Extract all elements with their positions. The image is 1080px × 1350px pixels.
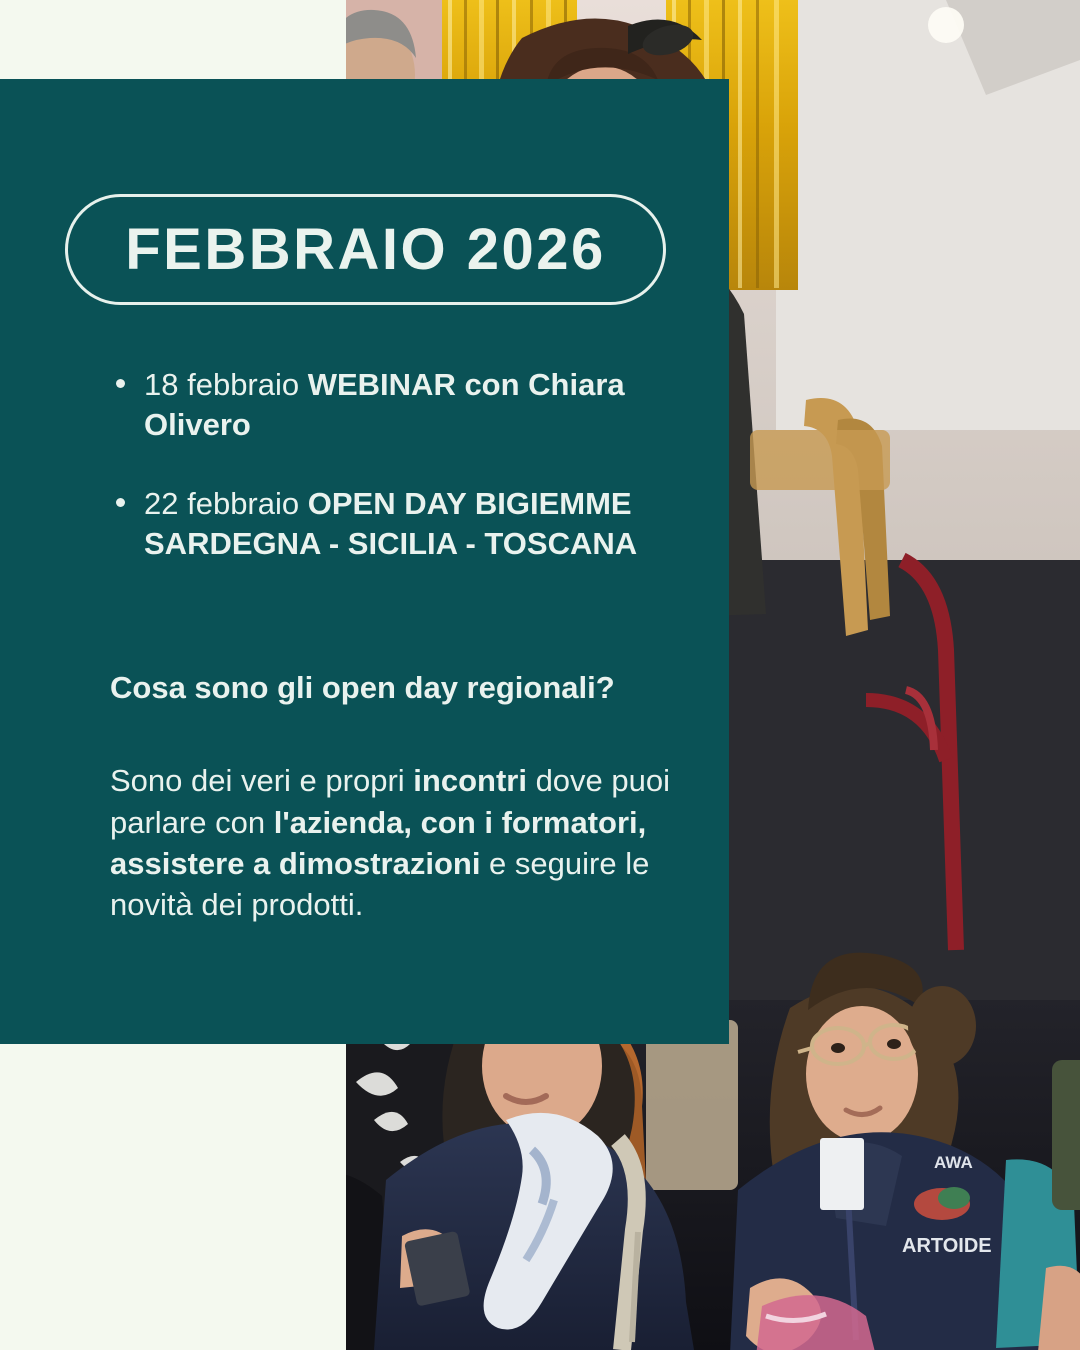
event-plain-text: 22 febbraio [144,486,308,521]
body-copy: Cosa sono gli open day regionali? Sono d… [110,668,675,925]
list-item: 22 febbraio OPEN DAY BIGIEMME SARDEGNA -… [110,484,670,565]
svg-text:ARTOIDE: ARTOIDE [902,1235,992,1257]
bullet-dot-icon [116,498,125,507]
content-panel: FEBBRAIO 2026 18 febbraio WEBINAR con Ch… [0,79,729,1044]
month-badge: FEBBRAIO 2026 [65,194,666,305]
event-plain-text: 18 febbraio [144,367,308,402]
list-item: 18 febbraio WEBINAR con Chiara Olivero [110,365,670,446]
month-badge-label: FEBBRAIO 2026 [125,221,606,279]
events-list: 18 febbraio WEBINAR con Chiara Olivero 2… [110,365,670,564]
paragraph-segment-bold: incontri [413,763,527,798]
paragraph-segment: Sono dei veri e propri [110,763,413,798]
svg-text:AWA: AWA [934,1153,973,1172]
bullet-dot-icon [116,379,125,388]
body-heading: Cosa sono gli open day regionali? [110,668,675,708]
body-paragraph: Sono dei veri e propri incontri dove puo… [110,760,675,925]
